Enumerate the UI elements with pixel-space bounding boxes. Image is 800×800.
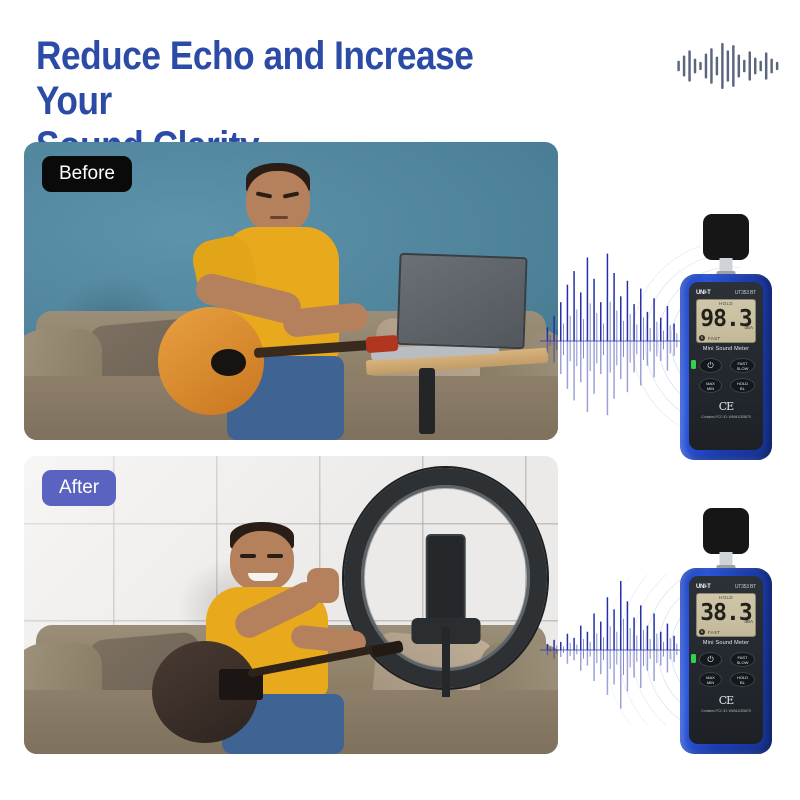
lcd-unit: dBA bbox=[744, 325, 753, 330]
electric-guitar bbox=[152, 629, 430, 748]
btn-line2: MIN bbox=[707, 680, 714, 685]
meter-body: UNI-T UT353 BT HOLD 98.3 dBA B FAST Mini… bbox=[680, 274, 772, 460]
bluetooth-icon: B bbox=[699, 335, 705, 341]
microphone-windscreen bbox=[703, 508, 749, 554]
brand-label: UNI-T bbox=[696, 584, 711, 590]
btn-line2: SLOW bbox=[737, 660, 749, 665]
certification-text: Contains FCC ID: W6NU2D5875 bbox=[689, 415, 763, 419]
before-photo: Before bbox=[24, 142, 558, 440]
ce-mark: CE bbox=[689, 694, 763, 707]
bluetooth-icon: B bbox=[699, 629, 705, 635]
hold-backlight-button[interactable]: HOLD BL bbox=[730, 378, 755, 393]
thumbs-up-hand bbox=[307, 568, 339, 603]
meter-faceplate: UNI-T UT353 BT HOLD 38.3 dBA B FAST Mini… bbox=[689, 576, 763, 744]
device-label: Mini Sound Meter bbox=[689, 640, 763, 646]
ce-mark: CE bbox=[689, 400, 763, 413]
power-icon: ⏻ bbox=[707, 657, 713, 662]
lcd-mode: FAST bbox=[708, 630, 720, 635]
phone-holder bbox=[426, 534, 467, 622]
tripod-stand bbox=[442, 627, 450, 698]
product-infographic: Reduce Echo and Increase Your Sound Clar… bbox=[0, 0, 800, 800]
fast-slow-button[interactable]: FAST SLOW bbox=[730, 358, 755, 373]
btn-line2: BL bbox=[740, 386, 745, 391]
brand-label: UNI-T bbox=[696, 290, 711, 296]
after-photo: After bbox=[24, 456, 558, 754]
power-button[interactable]: ⏻ bbox=[699, 652, 722, 667]
btn-line2: MIN bbox=[707, 386, 714, 391]
lcd-display: HOLD 98.3 dBA B FAST bbox=[696, 299, 756, 343]
device-label: Mini Sound Meter bbox=[689, 346, 763, 352]
meter-body: UNI-T UT353 BT HOLD 38.3 dBA B FAST Mini… bbox=[680, 568, 772, 754]
model-label: UT353 BT bbox=[735, 290, 756, 296]
microphone-windscreen bbox=[703, 214, 749, 260]
lcd-display: HOLD 38.3 dBA B FAST bbox=[696, 593, 756, 637]
lcd-unit: dBA bbox=[744, 619, 753, 624]
certification-text: Contains FCC ID: W6NU2D5875 bbox=[689, 709, 763, 713]
lcd-mode: FAST bbox=[708, 336, 720, 341]
power-button[interactable]: ⏻ bbox=[699, 358, 722, 373]
meter-faceplate: UNI-T UT353 BT HOLD 98.3 dBA B FAST Mini… bbox=[689, 282, 763, 450]
sound-level-meter-after: UNI-T UT353 BT HOLD 38.3 dBA B FAST Mini… bbox=[678, 508, 774, 756]
hold-backlight-button[interactable]: HOLD BL bbox=[730, 672, 755, 687]
brand-row: UNI-T UT353 BT bbox=[696, 582, 756, 591]
before-badge: Before bbox=[42, 156, 132, 192]
sound-level-meter-before: UNI-T UT353 BT HOLD 98.3 dBA B FAST Mini… bbox=[678, 214, 774, 462]
power-icon: ⏻ bbox=[707, 363, 713, 368]
status-led bbox=[691, 654, 696, 663]
acoustic-guitar bbox=[158, 297, 425, 428]
btn-line2: SLOW bbox=[737, 366, 749, 371]
max-min-button[interactable]: MAX MIN bbox=[699, 672, 722, 687]
audio-waveform-icon bbox=[676, 40, 780, 92]
status-led bbox=[691, 360, 696, 369]
brand-row: UNI-T UT353 BT bbox=[696, 288, 756, 297]
fast-slow-button[interactable]: FAST SLOW bbox=[730, 652, 755, 667]
after-badge: After bbox=[42, 470, 116, 506]
btn-line2: BL bbox=[740, 680, 745, 685]
max-min-button[interactable]: MAX MIN bbox=[699, 378, 722, 393]
model-label: UT353 BT bbox=[735, 584, 756, 590]
